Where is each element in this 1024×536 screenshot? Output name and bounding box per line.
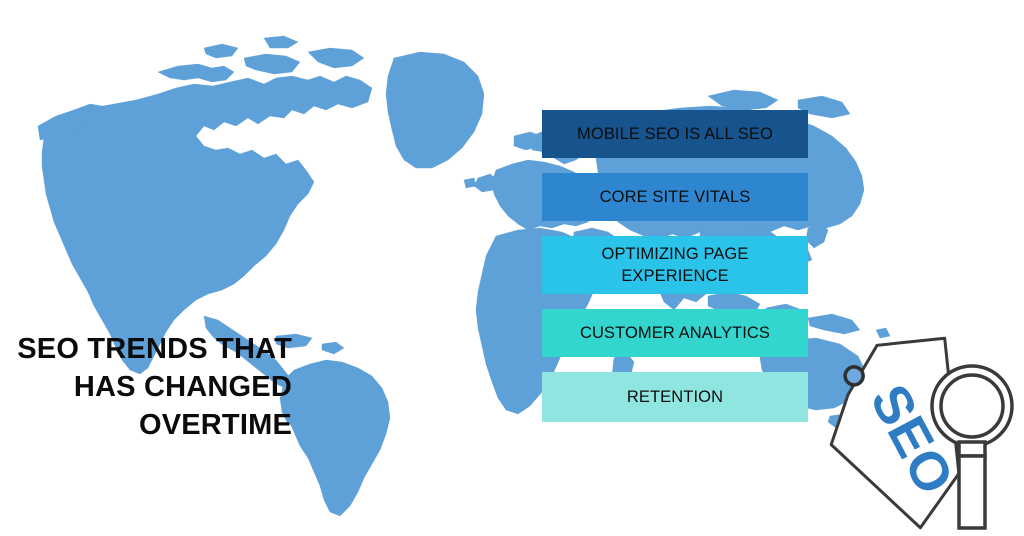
trend-bar-label: MOBILE SEO IS ALL SEO [577, 123, 773, 145]
trend-bar-customer-analytics[interactable]: CUSTOMER ANALYTICS [542, 309, 808, 357]
title-line-1: SEO TRENDS THAT [0, 330, 292, 368]
trend-bar-label: OPTIMIZING PAGE EXPERIENCE [548, 243, 802, 287]
trend-bar-retention[interactable]: RETENTION [542, 372, 808, 422]
trend-bar-core-site-vitals[interactable]: CORE SITE VITALS [542, 173, 808, 221]
title-line-3: OVERTIME [0, 406, 292, 444]
title-line-2: HAS CHANGED [0, 368, 292, 406]
seo-trends-list: MOBILE SEO IS ALL SEO CORE SITE VITALS O… [542, 110, 808, 422]
trend-bar-label: RETENTION [627, 386, 723, 408]
infographic-canvas: SEO TRENDS THAT HAS CHANGED OVERTIME MOB… [0, 0, 1024, 536]
trend-bar-mobile-seo-is-all-seo[interactable]: MOBILE SEO IS ALL SEO [542, 110, 808, 158]
seo-tag-magnifier-graphic: SEO [824, 330, 1024, 536]
trend-bar-optimizing-page-experience[interactable]: OPTIMIZING PAGE EXPERIENCE [542, 236, 808, 294]
trend-bar-label: CUSTOMER ANALYTICS [580, 322, 770, 344]
trend-bar-label: CORE SITE VITALS [600, 186, 751, 208]
page-title: SEO TRENDS THAT HAS CHANGED OVERTIME [0, 330, 292, 444]
